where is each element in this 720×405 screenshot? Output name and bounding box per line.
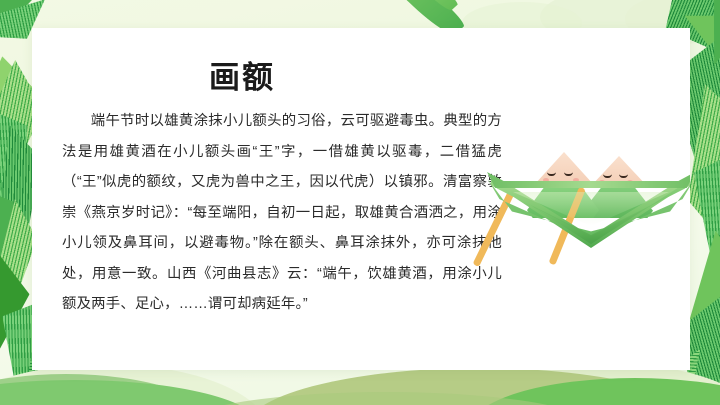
content-card: 画额 端午节时以雄黄涂抹小儿额头的习俗，云可驱避毒虫。典型的方法是用雄黄酒在小儿… — [32, 28, 690, 370]
zongzi-illustration — [487, 132, 690, 272]
body-paragraph: 端午节时以雄黄涂抹小儿额头的习俗，云可驱避毒虫。典型的方法是用雄黄酒在小儿额头画… — [62, 106, 502, 320]
slide-canvas: 画额 端午节时以雄黄涂抹小儿额头的习俗，云可驱避毒虫。典型的方法是用雄黄酒在小儿… — [0, 0, 720, 405]
page-title: 画额 — [32, 62, 452, 93]
